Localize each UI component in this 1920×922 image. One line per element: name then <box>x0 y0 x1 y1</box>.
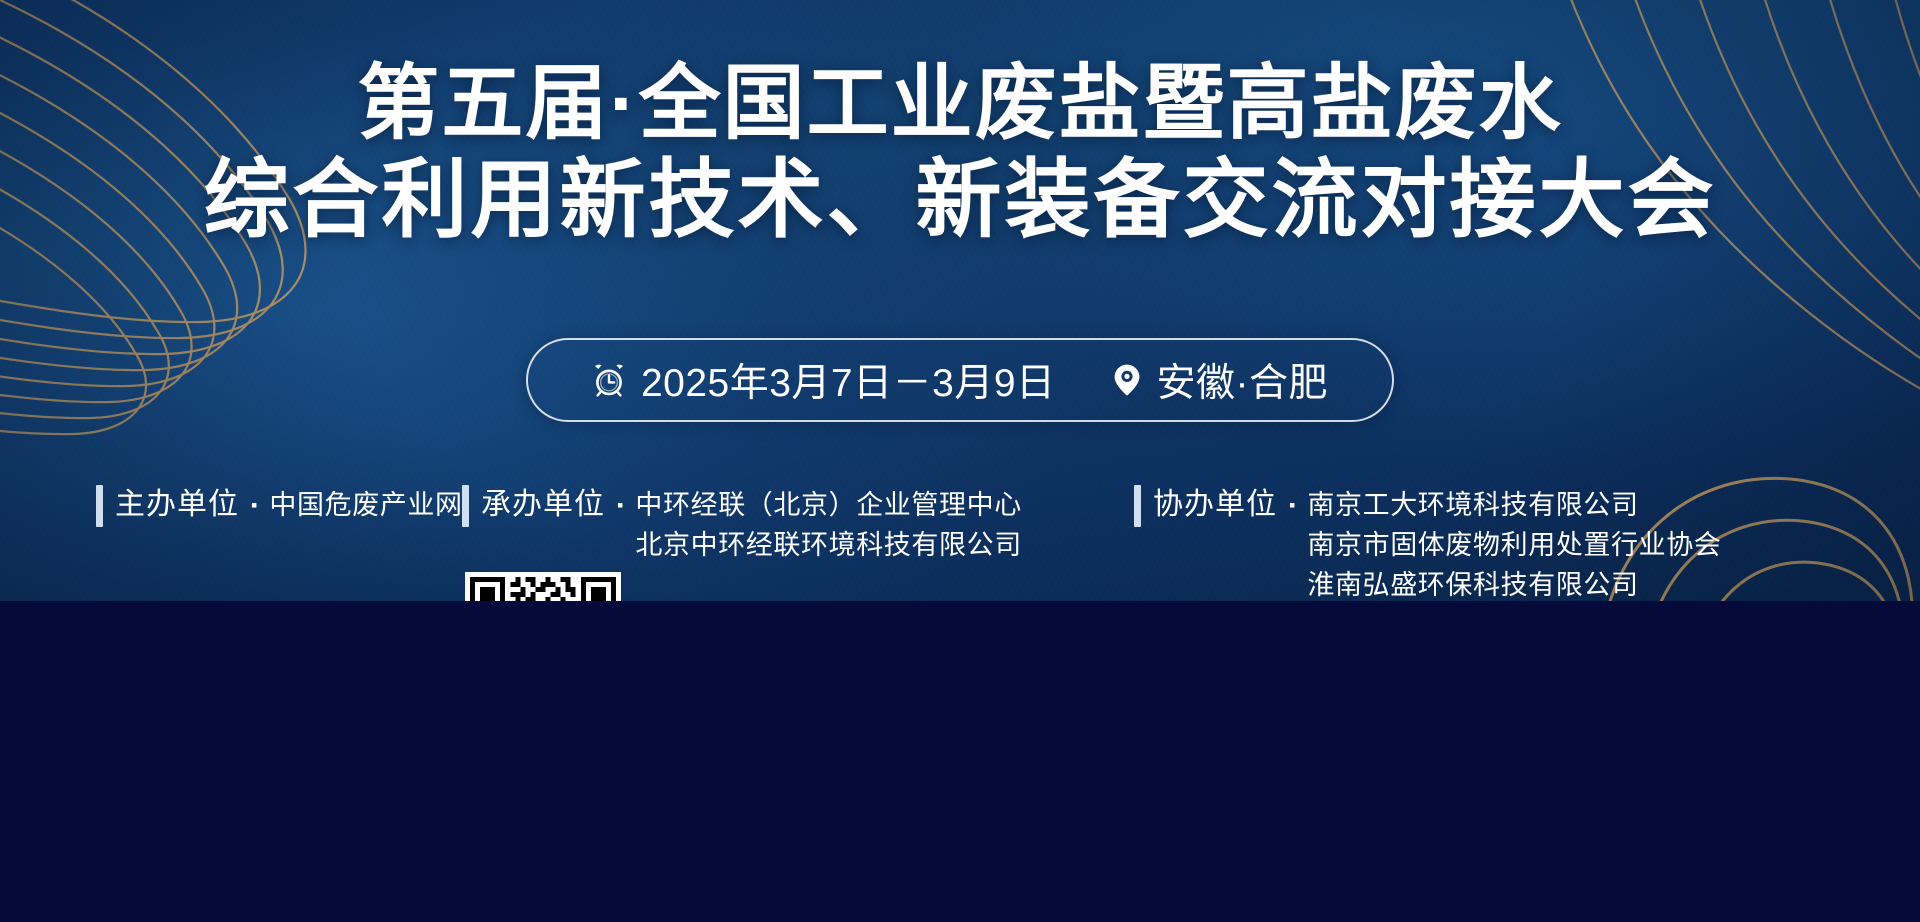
banner-title-line-2: 综合利用新技术、新装备交流对接大会 <box>0 151 1920 251</box>
organizer-name: 中国危废产业网 <box>269 485 462 525</box>
organizer-body: 协办单位 ▪ 南京工大环境科技有限公司 南京市固体废物利用处置行业协会 淮南弘盛… <box>1153 485 1721 601</box>
organizer-name: 北京中环经联环境科技有限公司 <box>635 525 1021 565</box>
organizer-accent-bar <box>1134 485 1141 527</box>
organizer-group-organizer: 承办单位 ▪ 中环经联（北京）企业管理中心 北京中环经联环境科技有限公司 <box>462 485 1134 565</box>
organizer-separator-icon: ▪ <box>617 485 623 525</box>
organizer-group-coorganizer: 协办单位 ▪ 南京工大环境科技有限公司 南京市固体废物利用处置行业协会 淮南弘盛… <box>1134 485 1721 601</box>
organizer-label: 主办单位 <box>115 485 239 525</box>
organizer-name: 南京市固体废物利用处置行业协会 <box>1307 525 1721 565</box>
event-info-pill: 2025年3月7日－3月9日 安徽·合肥 <box>526 338 1394 422</box>
organizer-group-host: 主办单位 ▪ 中国危废产业网 <box>96 485 462 527</box>
organizer-separator-icon: ▪ <box>251 485 257 525</box>
organizers-row: 主办单位 ▪ 中国危废产业网 承办单位 ▪ 中环经联（北京）企业管理中心 北京中… <box>96 485 1870 601</box>
organizer-separator-icon: ▪ <box>1289 485 1295 525</box>
event-info-pill-wrapper: 2025年3月7日－3月9日 安徽·合肥 <box>0 338 1920 422</box>
page-root: 第五届·全国工业废盐暨高盐废水 综合利用新技术、新装备交流对接大会 <box>0 0 1920 922</box>
conference-banner: 第五届·全国工业废盐暨高盐废水 综合利用新技术、新装备交流对接大会 <box>0 0 1920 601</box>
event-date-item: 2025年3月7日－3月9日 <box>592 352 1056 408</box>
organizer-name-list: 中国危废产业网 <box>269 485 462 525</box>
organizer-accent-bar <box>96 485 103 527</box>
organizer-name-list: 中环经联（北京）企业管理中心 北京中环经联环境科技有限公司 <box>635 485 1021 565</box>
organizer-name: 淮南弘盛环保科技有限公司 <box>1307 565 1638 601</box>
organizer-name-list: 南京工大环境科技有限公司 南京市固体废物利用处置行业协会 淮南弘盛环保科技有限公… <box>1307 485 1721 601</box>
banner-title-block: 第五届·全国工业废盐暨高盐废水 综合利用新技术、新装备交流对接大会 <box>0 56 1920 251</box>
page-lower-background <box>0 601 1920 922</box>
organizer-name: 南京工大环境科技有限公司 <box>1307 485 1638 525</box>
organizer-label: 承办单位 <box>481 485 605 525</box>
organizer-body: 主办单位 ▪ 中国危废产业网 <box>115 485 463 525</box>
alarm-clock-icon <box>592 363 626 397</box>
organizer-name: 中环经联（北京）企业管理中心 <box>635 485 1021 525</box>
banner-title-line-1: 第五届·全国工业废盐暨高盐废水 <box>0 56 1920 151</box>
organizer-body: 承办单位 ▪ 中环经联（北京）企业管理中心 北京中环经联环境科技有限公司 <box>481 485 1022 565</box>
qr-code[interactable] <box>465 572 621 601</box>
organizer-label: 协办单位 <box>1153 485 1277 525</box>
organizer-accent-bar <box>462 485 469 527</box>
event-date-text: 2025年3月7日－3月9日 <box>641 352 1056 408</box>
qr-code-image <box>470 577 616 601</box>
event-location-item: 安徽·合肥 <box>1112 352 1329 408</box>
map-pin-icon <box>1112 363 1142 397</box>
event-location-text: 安徽·合肥 <box>1157 352 1329 408</box>
